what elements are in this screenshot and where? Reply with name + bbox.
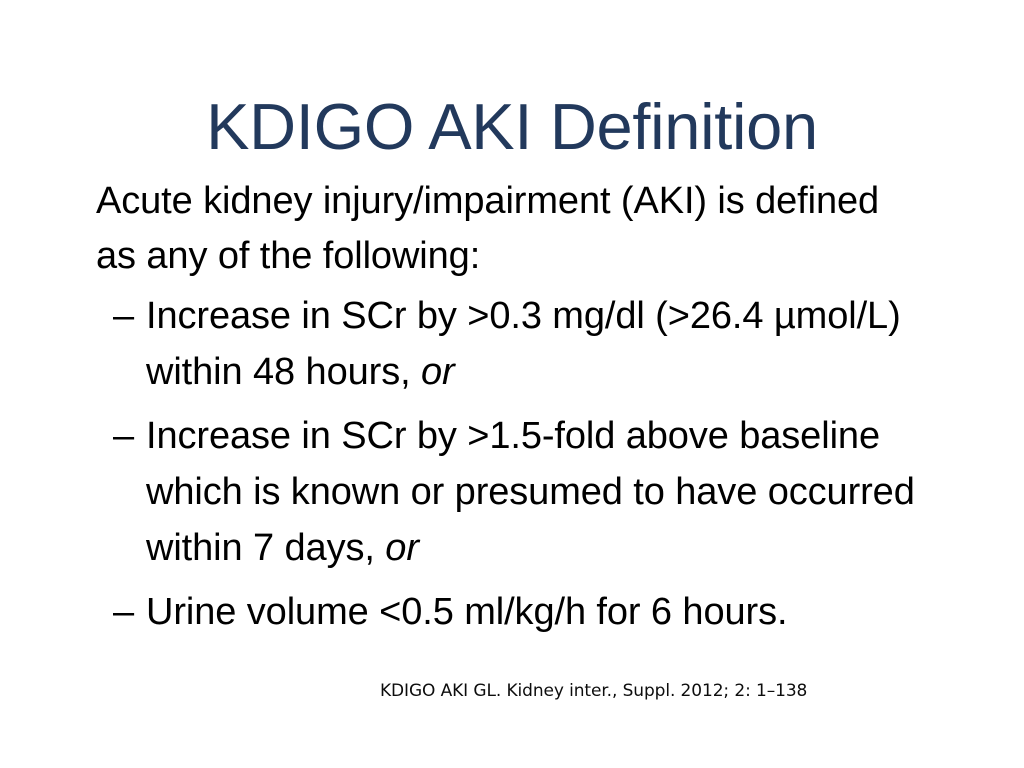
list-item-main-text: Increase in SCr by >0.3 mg/dl (>26.4 µmo…	[146, 295, 901, 393]
source-citation: KDIGO AKI GL. Kidney inter., Suppl. 2012…	[380, 679, 920, 703]
list-item-text: Increase in SCr by >1.5-fold above basel…	[146, 408, 966, 576]
list-item-main-text: Urine volume <0.5 ml/kg/h for 6 hours.	[146, 591, 787, 633]
list-item: – Increase in SCr by >0.3 mg/dl (>26.4 µ…	[96, 288, 976, 400]
list-item-conjunction: or	[385, 527, 419, 569]
intro-paragraph: Acute kidney injury/impairment (AKI) is …	[96, 174, 896, 284]
bullet-dash-icon: –	[113, 408, 134, 464]
bullet-dash-icon: –	[113, 288, 134, 344]
list-item: – Urine volume <0.5 ml/kg/h for 6 hours.	[96, 584, 976, 640]
bullet-dash-icon: –	[113, 584, 134, 640]
slide-body: Acute kidney injury/impairment (AKI) is …	[96, 174, 976, 648]
slide-canvas: KDIGO AKI Definition Acute kidney injury…	[0, 0, 1024, 768]
list-item-conjunction: or	[421, 351, 455, 393]
list-item-text: Urine volume <0.5 ml/kg/h for 6 hours.	[146, 584, 976, 640]
list-item-text: Increase in SCr by >0.3 mg/dl (>26.4 µmo…	[146, 288, 906, 400]
page-title: KDIGO AKI Definition	[0, 90, 1024, 164]
definition-criteria-list: – Increase in SCr by >0.3 mg/dl (>26.4 µ…	[96, 288, 976, 640]
list-item: – Increase in SCr by >1.5-fold above bas…	[96, 408, 976, 576]
list-item-main-text: Increase in SCr by >1.5-fold above basel…	[146, 415, 915, 569]
